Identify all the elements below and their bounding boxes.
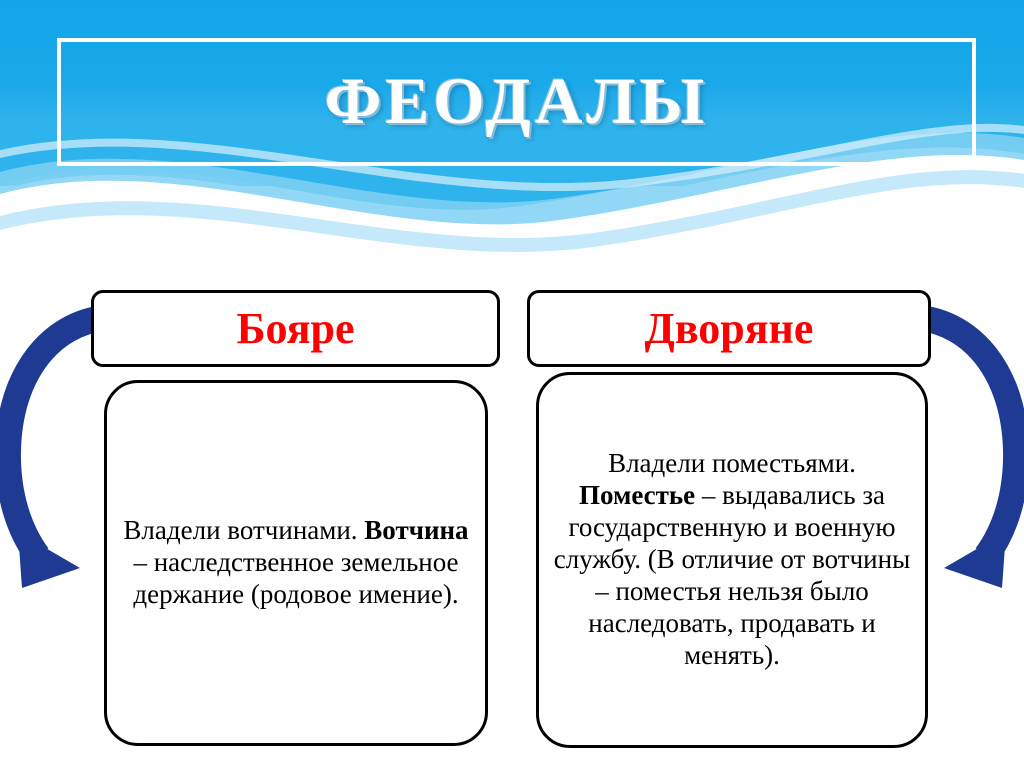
- nobles-heading-label: Дворяне: [645, 303, 814, 354]
- boyars-term: Вотчина: [364, 515, 468, 545]
- page-title: ФЕОДАЛЫ: [325, 64, 709, 140]
- boyars-description-box: Владели вотчинами. Вотчина – наследствен…: [104, 380, 488, 746]
- boyars-heading-label: Бояре: [236, 303, 354, 354]
- boyars-description-text: Владели вотчинами. Вотчина – наследствен…: [117, 515, 475, 611]
- nobles-term: Поместье: [579, 480, 695, 510]
- nobles-description-text: Владели поместьями. Поместье – выдавалис…: [549, 448, 915, 671]
- boyars-line-2: наследственное земельное держание (родов…: [133, 547, 458, 609]
- header-banner: ФЕОДАЛЫ: [0, 0, 1024, 262]
- boyars-dash: –: [133, 547, 153, 577]
- title-frame: ФЕОДАЛЫ: [57, 38, 976, 166]
- nobles-heading-box: Дворяне: [527, 290, 931, 367]
- nobles-line-1: Владели поместьями.: [608, 448, 856, 478]
- nobles-description-box: Владели поместьями. Поместье – выдавалис…: [536, 372, 928, 748]
- boyars-heading-box: Бояре: [91, 290, 500, 367]
- nobles-dash: –: [695, 480, 722, 510]
- boyars-line-1: Владели вотчинами.: [123, 515, 357, 545]
